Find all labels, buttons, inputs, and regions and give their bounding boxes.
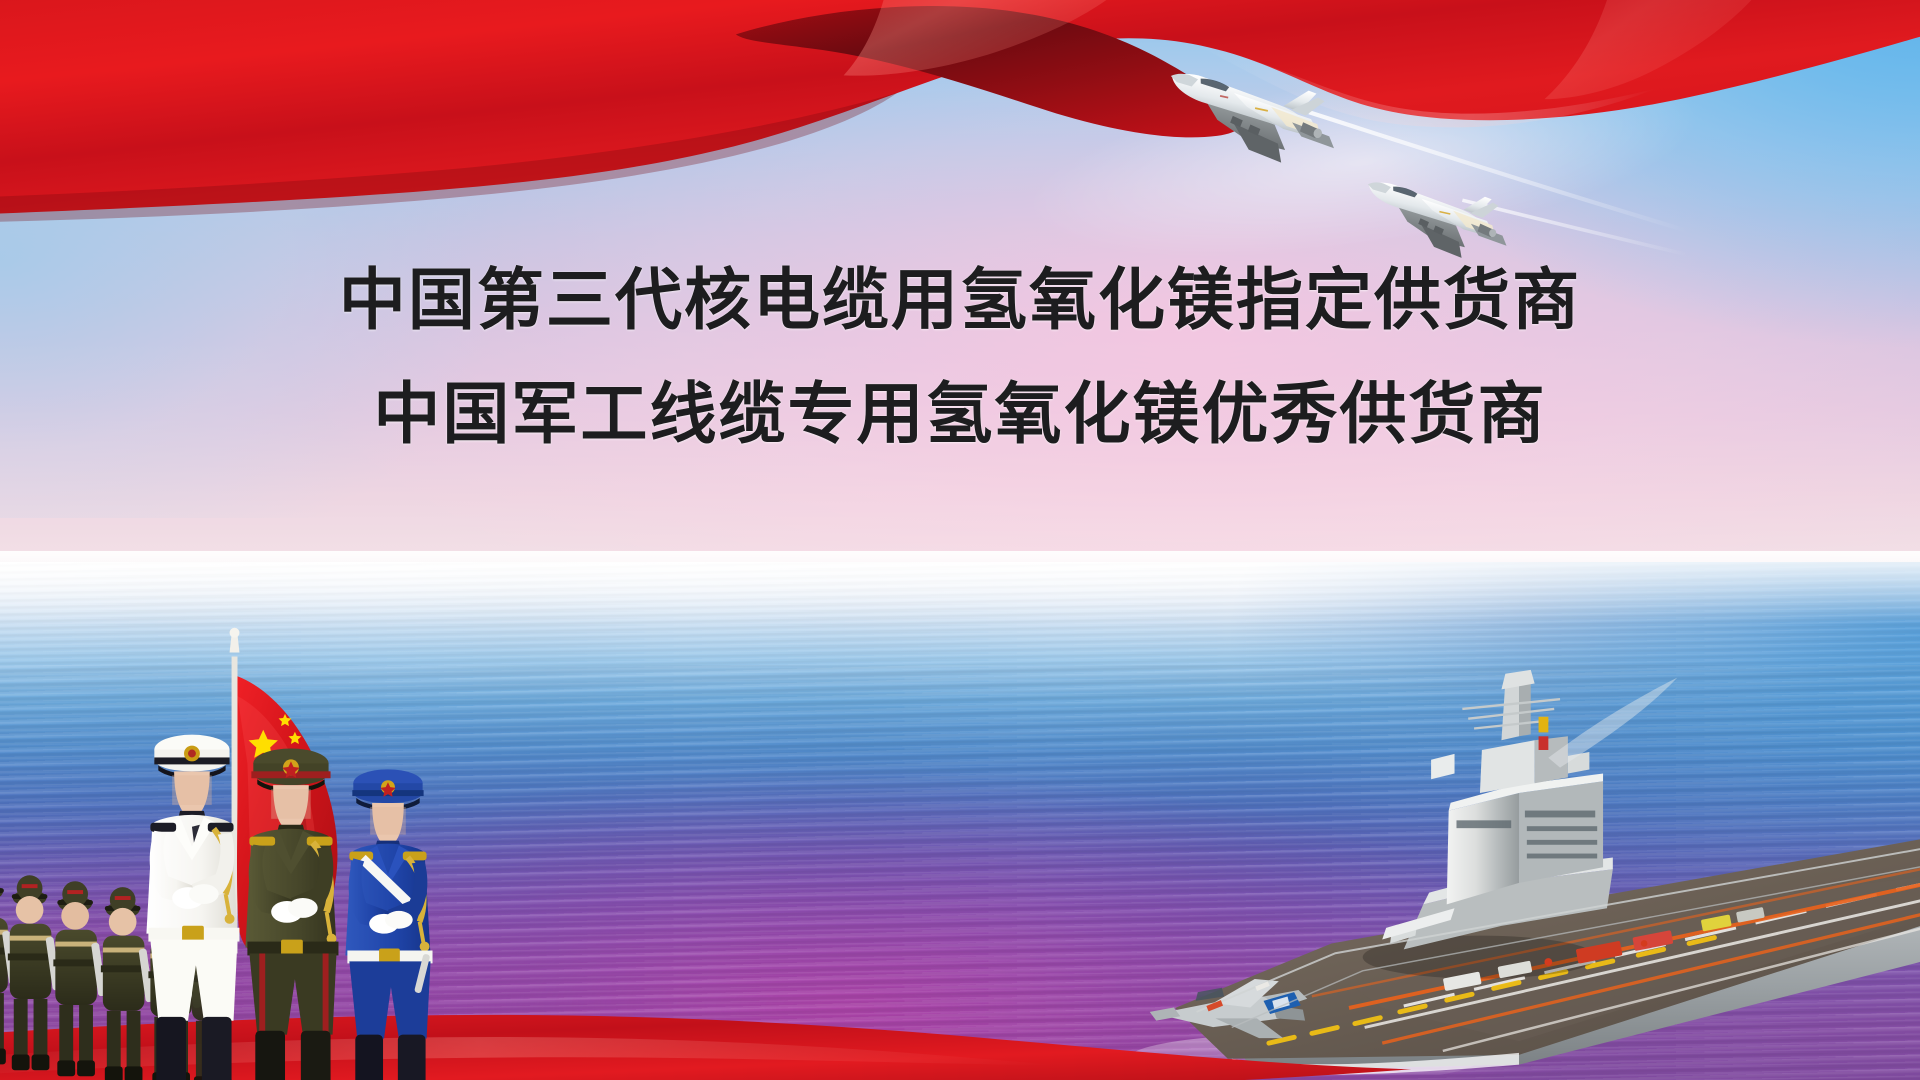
honor-guard-navy xyxy=(147,734,240,1080)
fighter-jet-formation xyxy=(960,22,1882,260)
promotional-banner: 中国第三代核电缆用氢氧化镁指定供货商 中国军工线缆专用氢氧化镁优秀供货商 xyxy=(0,0,1920,1080)
honor-guard-airforce xyxy=(346,769,433,1080)
tri-service-honor-guard xyxy=(0,605,586,1080)
